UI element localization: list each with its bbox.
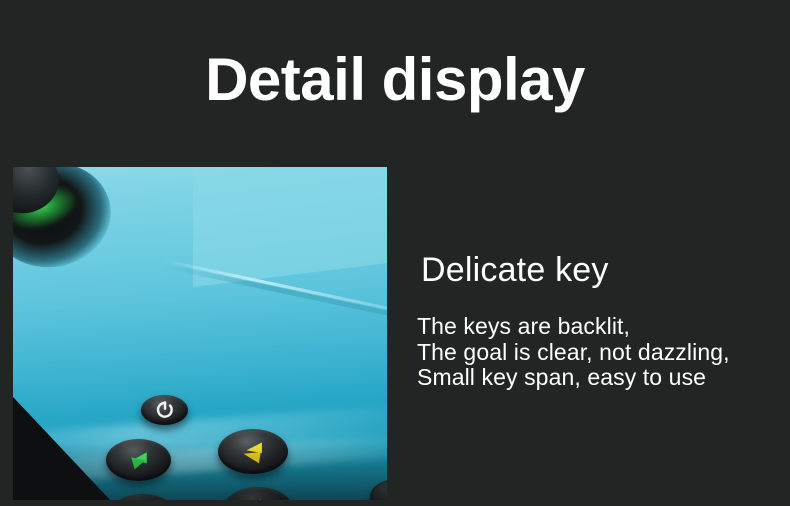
power-button[interactable] xyxy=(141,395,188,425)
feature-heading: Delicate key xyxy=(417,250,777,290)
feature-panel: Delicate key The keys are backlit, The g… xyxy=(417,250,777,391)
feature-line-1: The keys are backlit, xyxy=(417,314,777,340)
feature-line-3: Small key span, easy to use xyxy=(417,365,777,391)
power-icon xyxy=(155,401,174,420)
detail-display-page: Detail display xyxy=(0,0,790,506)
feature-description: The keys are backlit, The goal is clear,… xyxy=(417,314,777,391)
page-title: Detail display xyxy=(0,48,790,111)
product-photo xyxy=(13,167,387,500)
feature-line-2: The goal is clear, not dazzling, xyxy=(417,340,777,366)
